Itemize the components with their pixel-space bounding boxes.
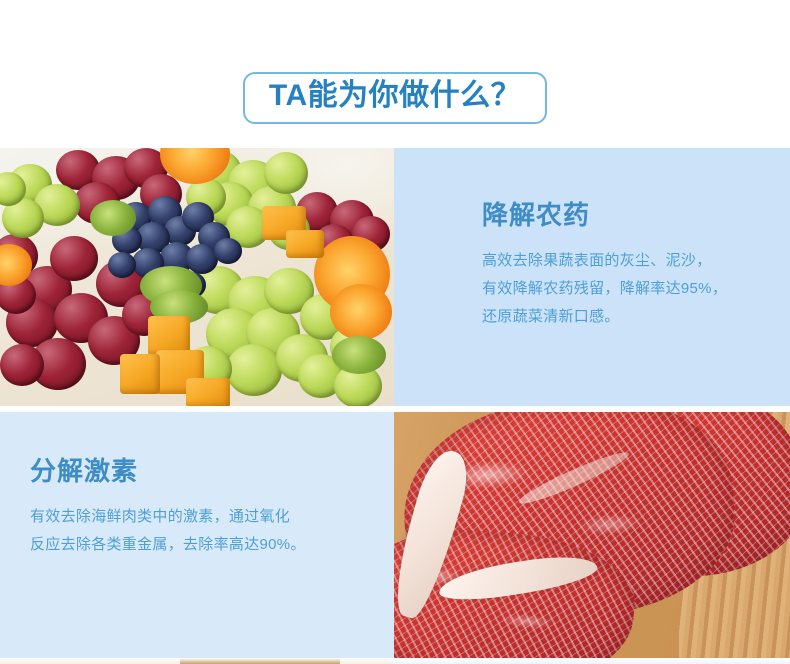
beef-photo-canvas <box>394 412 790 658</box>
page-title: TA能为你做什么？ <box>243 72 547 124</box>
feature-body-line: 有效去除海鲜肉类中的激素，通过氧化 <box>30 503 394 531</box>
next-section-sliver <box>0 658 790 664</box>
feature-heading: 分解激素 <box>30 456 394 487</box>
page-title-area: TA能为你做什么？ <box>0 70 790 126</box>
fruit-photo-canvas <box>0 148 394 406</box>
feature-body-line: 还原蔬菜清新口感。 <box>482 303 790 331</box>
feature-body-line: 高效去除果蔬表面的灰尘、泥沙， <box>482 247 790 275</box>
feature-body-line: 反应去除各类重金属，去除率高达90%。 <box>30 531 394 559</box>
feature-body-line: 有效降解农药残留，降解率达95%， <box>482 275 790 303</box>
feature-row-degrade-pesticide: 降解农药 高效去除果蔬表面的灰尘、泥沙， 有效降解农药残留，降解率达95%， 还… <box>0 148 790 406</box>
promo-page: TA能为你做什么？ <box>0 0 790 664</box>
feature-text-degrade-pesticide: 降解农药 高效去除果蔬表面的灰尘、泥沙， 有效降解农药残留，降解率达95%， 还… <box>394 148 790 406</box>
next-section-wood <box>180 658 340 664</box>
fruit-platter-photo <box>0 148 394 406</box>
next-section-right <box>394 658 790 664</box>
feature-heading: 降解农药 <box>482 200 790 231</box>
feature-text-decompose-hormone: 分解激素 有效去除海鲜肉类中的激素，通过氧化 反应去除各类重金属，去除率高达90… <box>0 412 394 658</box>
feature-body: 有效去除海鲜肉类中的激素，通过氧化 反应去除各类重金属，去除率高达90%。 <box>30 503 394 559</box>
feature-row-decompose-hormone: 分解激素 有效去除海鲜肉类中的激素，通过氧化 反应去除各类重金属，去除率高达90… <box>0 412 790 658</box>
feature-body: 高效去除果蔬表面的灰尘、泥沙， 有效降解农药残留，降解率达95%， 还原蔬菜清新… <box>482 247 790 330</box>
marbled-beef-photo <box>394 412 790 658</box>
